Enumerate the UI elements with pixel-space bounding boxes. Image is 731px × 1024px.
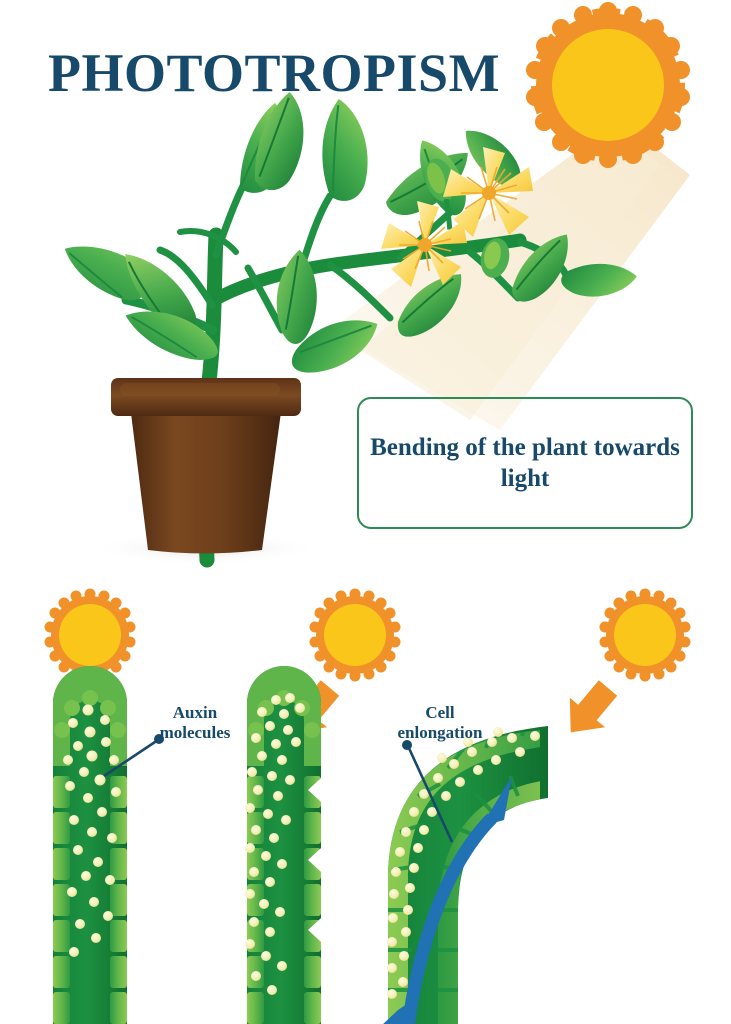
sun-icon (310, 589, 401, 682)
stem-straight (245, 666, 362, 1024)
stem-straight (53, 666, 127, 1024)
callout-text: Bending of the plant towards light (359, 432, 691, 495)
white-light-arrows (308, 768, 362, 952)
label-auxin-molecules: Auxin molecules (140, 703, 250, 743)
stage-1 (45, 589, 165, 1024)
page-title: PHOTOTROPISM (48, 46, 500, 100)
light-arrow-diagonal (553, 673, 626, 747)
sun-icon (600, 589, 691, 682)
phototropism-infographic: PHOTOTROPISM Bending of the plant toward… (0, 0, 731, 1024)
label-cell-enlongation: Cell enlongation (380, 703, 500, 743)
phototropism-stages (0, 580, 731, 1024)
stage-3 (364, 589, 691, 1024)
stage-2 (245, 589, 401, 1024)
terracotta-pot (111, 378, 301, 554)
sun-icon (526, 2, 690, 168)
callout-box: Bending of the plant towards light (357, 397, 693, 529)
